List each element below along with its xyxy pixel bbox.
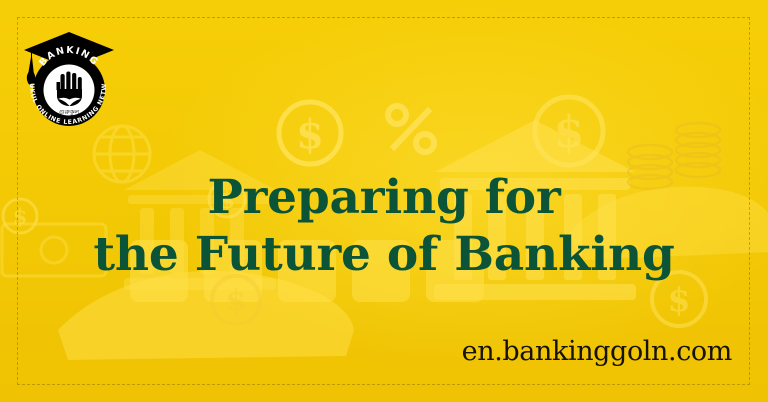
logo-script-text: গুরুকুল [59,108,80,116]
page-title: Preparing for the Future of Banking [0,169,768,283]
site-url[interactable]: en.bankinggoln.com [462,336,732,367]
promo-banner: $ $ $ $ $ $ [0,0,768,402]
banking-gurukul-logo: BANKING GURUKUL ONLINE LEARNING NETWORK … [16,26,120,130]
